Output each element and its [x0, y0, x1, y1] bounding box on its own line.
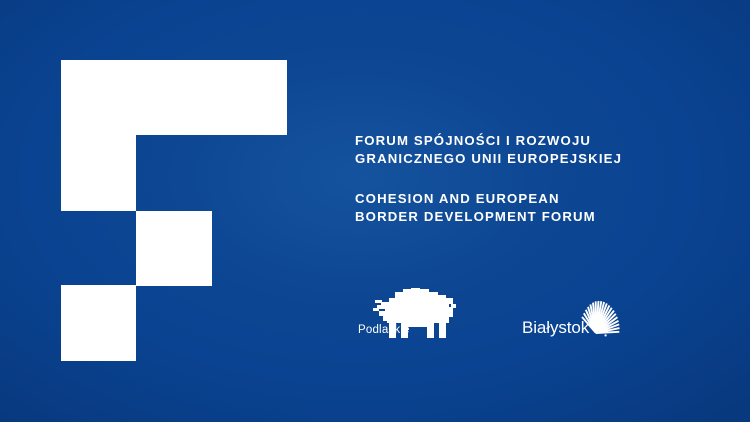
bialystok-logo: Białystok — [522, 286, 640, 348]
bialystok-label: Białystok — [522, 318, 589, 338]
title-english-line-1: COHESION AND EUROPEAN — [355, 190, 685, 208]
podlaskie-logo: Podlaskie — [353, 286, 468, 348]
title-polish: FORUM SPÓJNOŚCI I ROZWOJU GRANICZNEGO UN… — [355, 132, 685, 168]
presentation-slide: FORUM SPÓJNOŚCI I ROZWOJU GRANICZNEGO UN… — [0, 0, 750, 422]
title-block: FORUM SPÓJNOŚCI I ROZWOJU GRANICZNEGO UN… — [355, 132, 685, 226]
podlaskie-label: Podlaskie — [358, 324, 410, 337]
forum-f-logo-mark — [61, 60, 287, 361]
f-mark-block-upper-left — [61, 135, 136, 211]
title-polish-line-2: GRANICZNEGO UNII EUROPEJSKIEJ — [355, 150, 685, 168]
title-polish-line-1: FORUM SPÓJNOŚCI I ROZWOJU — [355, 132, 685, 150]
f-mark-block-bottom-left — [61, 285, 136, 361]
f-mark-block-center — [136, 211, 212, 286]
title-english: COHESION AND EUROPEAN BORDER DEVELOPMENT… — [355, 190, 685, 226]
f-mark-block-top — [61, 60, 287, 135]
title-english-line-2: BORDER DEVELOPMENT FORUM — [355, 208, 685, 226]
partner-logos: Podlaskie — [350, 286, 640, 358]
